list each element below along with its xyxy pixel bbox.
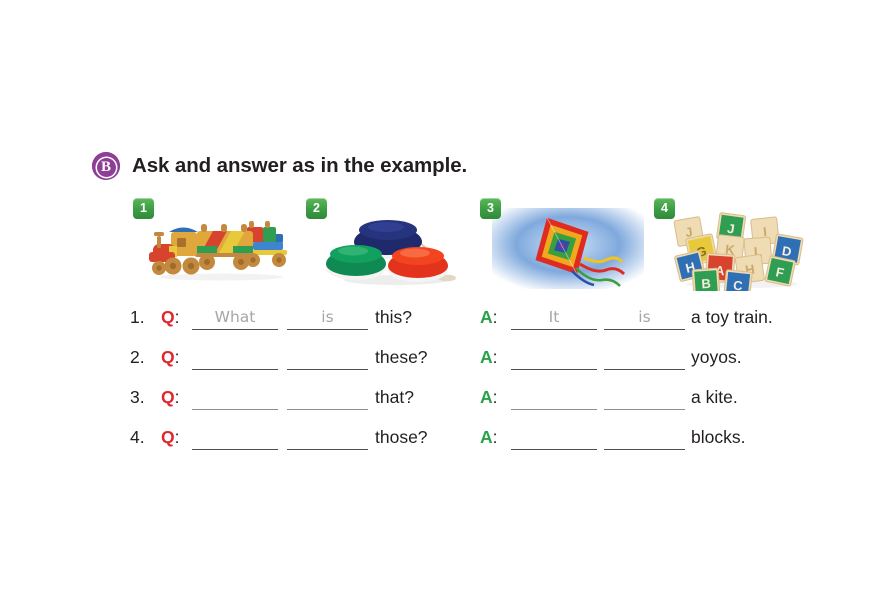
row-number: 4. [130,427,156,448]
page-title: Ask and answer as in the example. [132,154,467,178]
question-marker: Q: [161,427,180,448]
picture-strip: 1 [133,198,833,293]
answer-blank-2[interactable] [604,427,685,450]
answer-blank-1[interactable] [511,387,597,410]
question-tail-text: this? [375,307,412,328]
yoyos-image [314,206,474,291]
question-marker: Q: [161,307,180,328]
answer-blank-2[interactable] [604,347,685,370]
question-blank-1[interactable] [192,427,278,450]
picture-item-4[interactable]: 4 J J [654,198,829,293]
question-blank-2[interactable]: is [287,307,368,330]
exercise-letter-badge-label: B [97,158,116,177]
answer-blank-2[interactable]: is [604,307,685,330]
question-blank-1[interactable] [192,387,278,410]
picture-item-3[interactable]: 3 [480,198,655,293]
answer-marker: A: [480,307,498,328]
picture-number-badge-4: 4 [654,198,675,219]
picture-item-2[interactable]: 2 [306,198,481,293]
question-tail-text: these? [375,347,428,368]
svg-text:C: C [732,278,744,291]
question-blank-2[interactable] [287,347,368,370]
answer-tail-text: a kite. [691,387,738,408]
picture-number-badge-3: 3 [480,198,501,219]
wooden-toy-train-image [141,206,301,291]
question-marker: Q: [161,347,180,368]
answer-blank-2[interactable] [604,387,685,410]
answer-blank-1[interactable] [511,427,597,450]
picture-item-1[interactable]: 1 [133,198,308,293]
answer-blank-1[interactable]: It [511,307,597,330]
question-tail-text: that? [375,387,414,408]
worksheet-page: B Ask and answer as in the example. 1 [0,0,873,612]
question-blank-2[interactable] [287,427,368,450]
answer-tail-text: yoyos. [691,347,742,368]
qa-row: 3. Q: that? A: a kite. [130,383,830,423]
qa-row: 4. Q: those? A: blocks. [130,423,830,463]
row-number: 3. [130,387,156,408]
row-number: 1. [130,307,156,328]
row-number: 2. [130,347,156,368]
alphabet-blocks-image: J J I [662,206,822,291]
answer-marker: A: [480,387,498,408]
picture-number-badge-2: 2 [306,198,327,219]
answer-blank-1[interactable] [511,347,597,370]
exercise-heading: B Ask and answer as in the example. [92,152,467,180]
kite-image [488,206,648,291]
svg-text:B: B [701,276,711,291]
answer-marker: A: [480,347,498,368]
answer-marker: A: [480,427,498,448]
question-blank-2[interactable] [287,387,368,410]
exercise-letter-badge: B [92,152,120,180]
picture-number-badge-1: 1 [133,198,154,219]
qa-row: 1. Q: What is this? A: It is a toy train… [130,303,830,343]
qa-list: 1. Q: What is this? A: It is a toy train… [130,303,830,463]
question-tail-text: those? [375,427,428,448]
answer-tail-text: a toy train. [691,307,773,328]
question-blank-1[interactable] [192,347,278,370]
question-marker: Q: [161,387,180,408]
qa-row: 2. Q: these? A: yoyos. [130,343,830,383]
answer-tail-text: blocks. [691,427,745,448]
question-blank-1[interactable]: What [192,307,278,330]
